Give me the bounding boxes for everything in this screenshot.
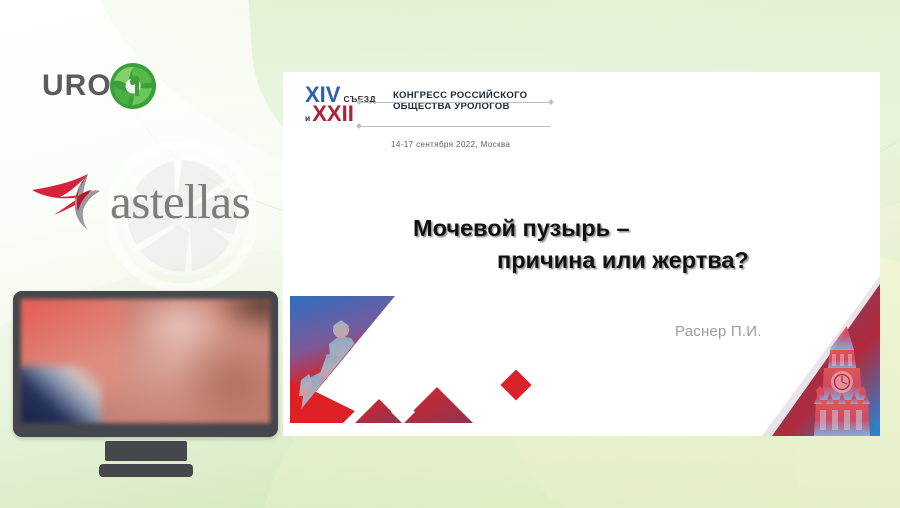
kremlin-tower-art: WWW.CONGRESS-ROU.RU bbox=[762, 276, 880, 436]
astellas-wordmark: astellas bbox=[110, 177, 250, 226]
slide-canvas: URO TV bbox=[0, 0, 900, 508]
congress-logo-diamond-right-top bbox=[548, 99, 554, 105]
tv-stand-base bbox=[99, 464, 193, 477]
astellas-logo: astellas bbox=[30, 170, 250, 232]
slide-title-line2: причина или жертва? bbox=[497, 244, 853, 276]
congress-title-line1: КОНГРЕСС РОССИЙСКОГО bbox=[393, 90, 527, 101]
congress-logo-numerals: XIV СЪЕЗД и XXII bbox=[305, 84, 376, 125]
tv-frame bbox=[13, 291, 278, 437]
congress-roman-second: XXII bbox=[312, 103, 354, 125]
slide-content-panel: XIV СЪЕЗД и XXII КОНГРЕСС РОССИЙСКОГО ОБ… bbox=[283, 72, 880, 436]
tv-stand-neck bbox=[105, 441, 187, 461]
congress-logo: XIV СЪЕЗД и XXII КОНГРЕСС РОССИЙСКОГО ОБ… bbox=[305, 84, 527, 125]
video-region-dark-corner bbox=[213, 299, 270, 336]
urotv-logo-text-left: URO bbox=[42, 71, 112, 101]
slide-title: Мочевой пузырь – причина или жертва? bbox=[413, 212, 853, 277]
congress-conjunction: и bbox=[305, 114, 310, 123]
congress-title-line2: ОБЩЕСТВА УРОЛОГОВ bbox=[393, 101, 527, 112]
television-graphic bbox=[13, 291, 278, 477]
tv-screen-video bbox=[21, 299, 270, 423]
congress-date-place: 14-17 сентября 2022, Москва bbox=[391, 140, 510, 149]
astellas-star-swoosh-icon bbox=[30, 170, 116, 232]
congress-logo-title: КОНГРЕСС РОССИЙСКОГО ОБЩЕСТВА УРОЛОГОВ bbox=[384, 84, 527, 113]
slide-title-line1: Мочевой пузырь – bbox=[413, 215, 630, 241]
congress-logo-rule-bottom bbox=[361, 126, 551, 127]
congress-logo-rule-top bbox=[361, 102, 551, 103]
green-aperture-icon bbox=[109, 62, 157, 110]
urotv-logo: URO TV bbox=[42, 62, 154, 110]
video-instrument-shape bbox=[21, 366, 101, 423]
video-region-right bbox=[175, 334, 270, 423]
